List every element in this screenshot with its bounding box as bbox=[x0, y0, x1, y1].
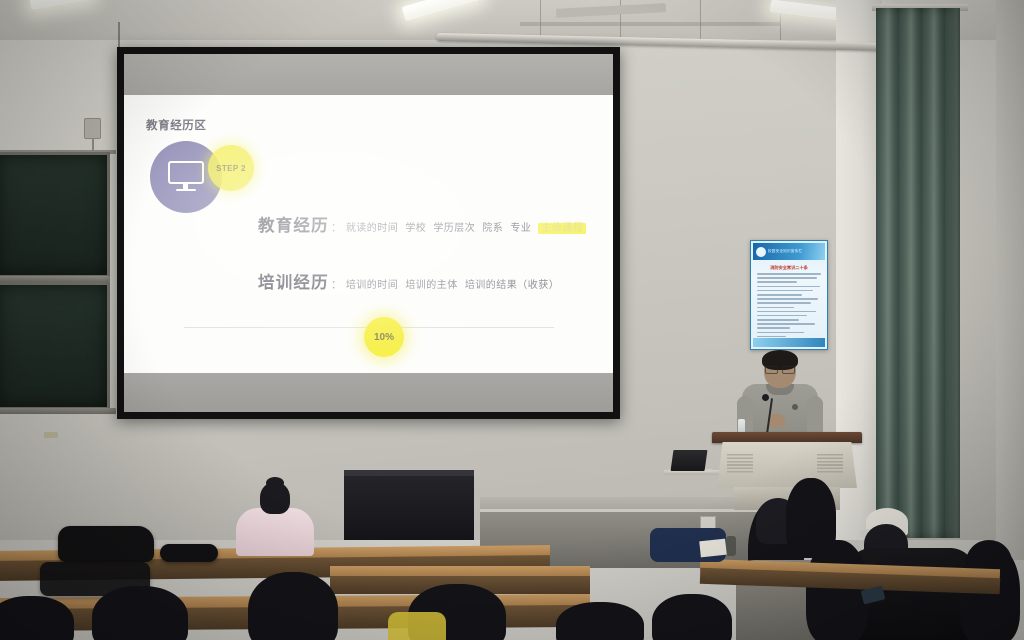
student-head-foreground bbox=[556, 602, 644, 640]
wall-speaker bbox=[84, 118, 101, 139]
microphone-icon bbox=[762, 394, 769, 401]
poster-logo-icon bbox=[756, 247, 766, 257]
lecture-hall-photo: 教育经历区 STEP 2 教育经历 ： 就读的时间学校学历层次院系专业主修课程 bbox=[0, 0, 1024, 640]
screen-unused-bottom bbox=[124, 370, 613, 412]
student-torso bbox=[236, 508, 314, 556]
step-badge: STEP 2 bbox=[208, 145, 254, 191]
student-yellow-top bbox=[388, 612, 446, 640]
slide-row-colon: ： bbox=[331, 276, 342, 292]
poster-header: 校园安全知识宣传栏 bbox=[753, 243, 825, 260]
ceiling-beam bbox=[520, 22, 780, 26]
presenter-badge bbox=[792, 404, 798, 410]
poster-footer bbox=[753, 338, 825, 347]
slide-highlighted-item: 主修课程 bbox=[538, 223, 586, 234]
podium-vent bbox=[727, 454, 753, 474]
chalk-eraser bbox=[44, 432, 58, 438]
stage-equipment-box bbox=[344, 474, 474, 540]
podium bbox=[712, 432, 862, 510]
slide-row-education: 教育经历 ： 就读的时间学校学历层次院系专业主修课程 bbox=[258, 212, 586, 236]
blackboard-upper bbox=[0, 152, 110, 278]
podium-worktop bbox=[712, 432, 862, 443]
slide-row-label: 教育经历 bbox=[258, 212, 329, 236]
paper-on-desk bbox=[699, 539, 727, 558]
slide-row-colon: ： bbox=[331, 219, 342, 235]
student-head-foreground bbox=[248, 572, 338, 640]
progress-badge: 10% bbox=[364, 317, 404, 357]
slide-row-training: 培训经历 ： 培训的时间培训的主体培训的结果（收获） bbox=[258, 269, 559, 293]
projection-surface: 教育经历区 STEP 2 教育经历 ： 就读的时间学校学历层次院系专业主修课程 bbox=[124, 54, 613, 412]
presenter-hand bbox=[768, 414, 785, 428]
poster-body-text bbox=[757, 273, 821, 335]
podium-body bbox=[717, 442, 857, 488]
student-hair bbox=[806, 540, 868, 640]
bottle-on-desk bbox=[726, 536, 736, 556]
blackboard-tray bbox=[0, 408, 116, 414]
poster-header-text: 校园安全知识宣传栏 bbox=[768, 249, 802, 254]
wall-poster: 校园安全知识宣传栏 消防安全常识二十条 bbox=[750, 240, 828, 350]
slide-row-label: 培训经历 bbox=[258, 269, 329, 293]
jacket-on-desk bbox=[160, 544, 218, 562]
monitor-icon bbox=[168, 161, 204, 191]
glasses-icon bbox=[765, 365, 795, 371]
presentation-slide: 教育经历区 STEP 2 教育经历 ： 就读的时间学校学历层次院系专业主修课程 bbox=[124, 95, 613, 373]
slide-title: 教育经历区 bbox=[146, 117, 207, 133]
laptop-icon[interactable] bbox=[671, 450, 708, 471]
student-front-pink bbox=[236, 482, 314, 558]
presenter bbox=[738, 352, 822, 440]
wall-right-edge bbox=[996, 0, 1024, 560]
slide-row-items: 就读的时间学校学历层次院系专业主修课程 bbox=[346, 219, 587, 234]
screen-unused-top bbox=[124, 54, 613, 95]
poster-title: 消防安全常识二十条 bbox=[757, 265, 821, 271]
student-head-foreground bbox=[652, 594, 732, 640]
student-hair-bun bbox=[266, 477, 284, 489]
podium-vent bbox=[817, 454, 843, 474]
slide-row-items: 培训的时间培训的主体培训的结果（收获） bbox=[346, 276, 560, 291]
backpack bbox=[58, 526, 154, 562]
student-head-foreground bbox=[92, 586, 188, 640]
projection-screen: 教育经历区 STEP 2 教育经历 ： 就读的时间学校学历层次院系专业主修课程 bbox=[117, 47, 620, 419]
window-curtain bbox=[876, 8, 960, 538]
stage-equipment-box-top bbox=[344, 470, 474, 476]
blackboard-lower bbox=[0, 282, 110, 410]
